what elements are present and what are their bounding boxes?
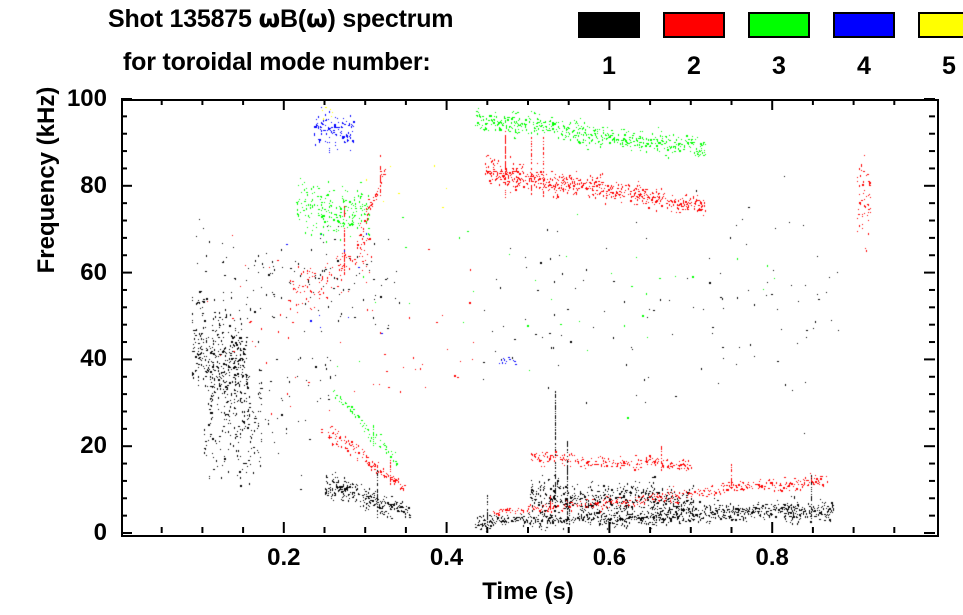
figure-title-line-2: for toroidal mode number: xyxy=(123,48,431,77)
legend-labels: 12345 xyxy=(578,52,963,81)
x-tick-label-0.8: 0.8 xyxy=(732,546,812,570)
x-tick-label-0.4: 0.4 xyxy=(407,546,487,570)
omega-symbol-1: ω xyxy=(258,4,280,33)
title-tail: ) spectrum xyxy=(328,5,454,33)
legend-swatch-4 xyxy=(833,12,895,38)
x-axis-title: Time (s) xyxy=(121,578,935,606)
legend-swatch-3 xyxy=(748,12,810,38)
x-tick-label-0.6: 0.6 xyxy=(569,546,649,570)
y-tick-label-0: 0 xyxy=(47,521,107,545)
omega-symbol-2: ω xyxy=(306,4,328,33)
legend-label-1: 1 xyxy=(578,52,640,81)
legend-swatch-1 xyxy=(578,12,640,38)
legend-swatches xyxy=(578,12,963,38)
plot-frame xyxy=(121,99,939,537)
legend-swatch-5 xyxy=(918,12,963,38)
legend-swatch-2 xyxy=(663,12,725,38)
figure-root: Shot 135875 ωB(ω) spectrum for toroidal … xyxy=(0,0,963,615)
y-axis-title: Frequency (kHz) xyxy=(33,70,61,290)
figure-title-line-1: Shot 135875 ωB(ω) spectrum xyxy=(108,4,453,34)
y-tick-label-40: 40 xyxy=(47,347,107,371)
x-tick-label-0.2: 0.2 xyxy=(244,546,324,570)
legend-label-3: 3 xyxy=(748,52,810,81)
legend-label-5: 5 xyxy=(918,52,963,81)
title-mid: B( xyxy=(280,5,306,33)
legend-label-2: 2 xyxy=(663,52,725,81)
spectrogram-plot-area xyxy=(123,101,937,535)
legend-label-4: 4 xyxy=(833,52,895,81)
y-tick-label-20: 20 xyxy=(47,434,107,458)
title-prefix: Shot 135875 xyxy=(108,5,258,33)
